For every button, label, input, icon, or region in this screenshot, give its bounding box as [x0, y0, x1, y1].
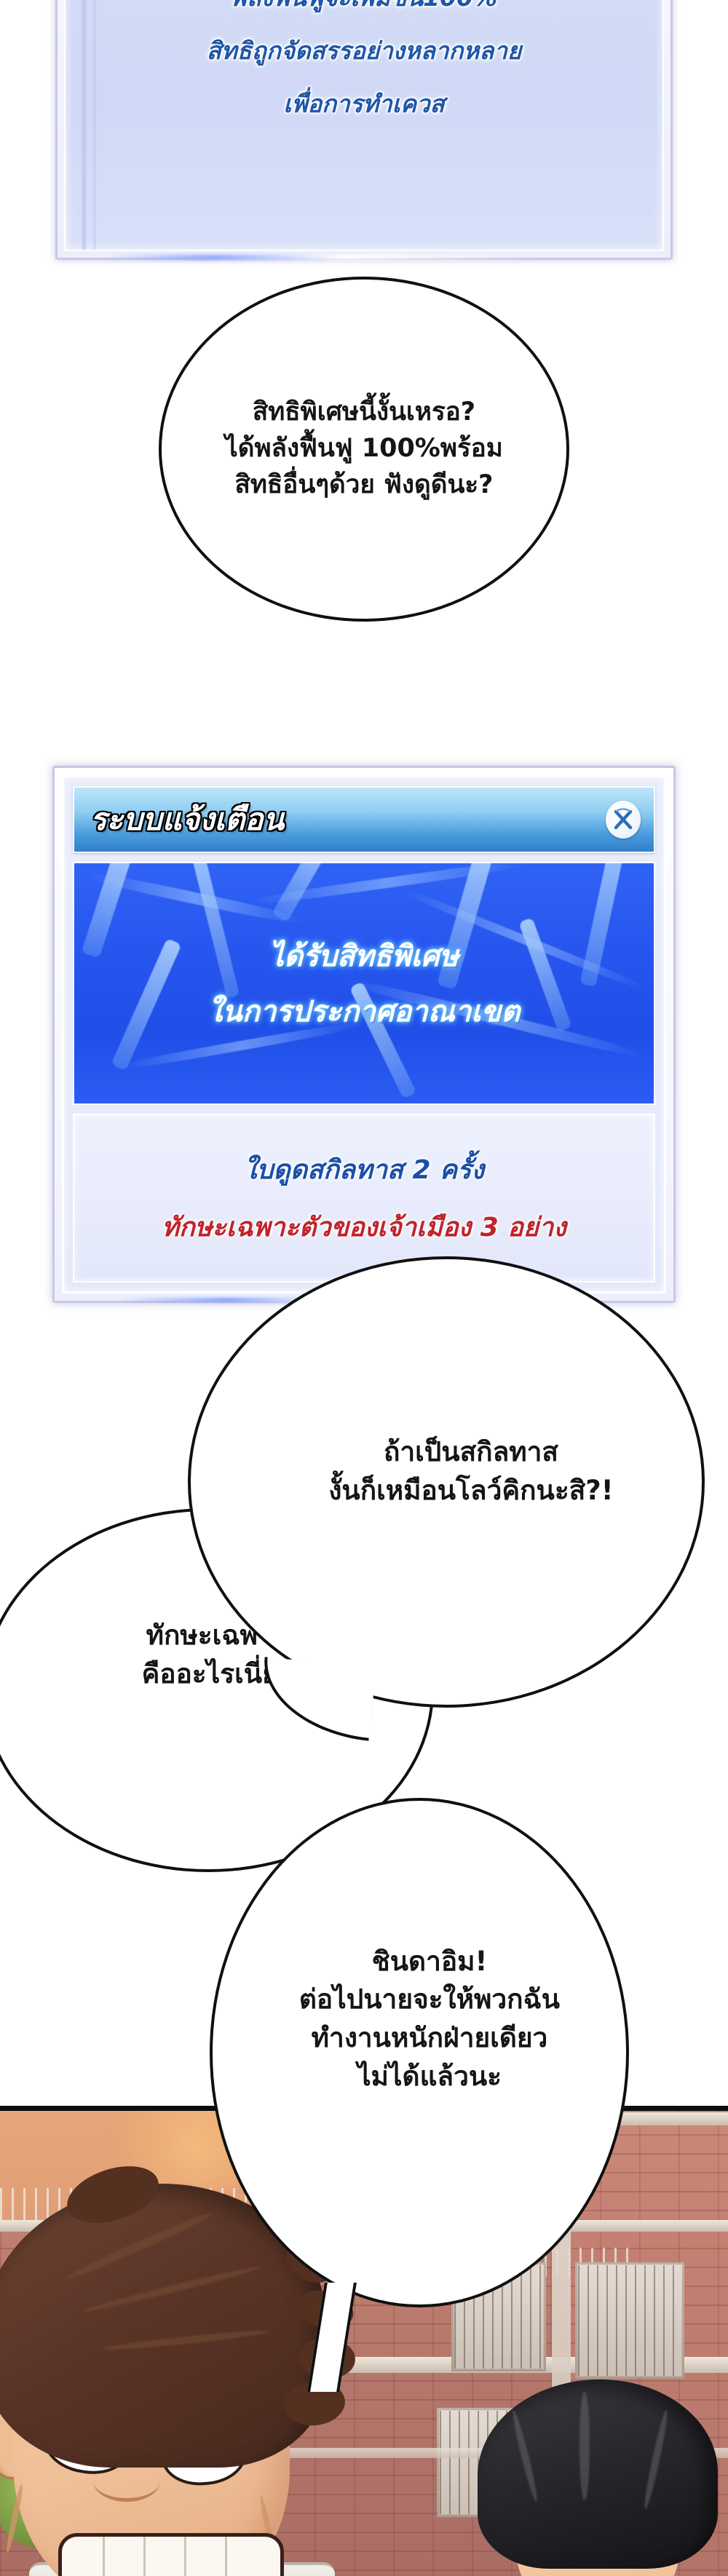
system-announcement-inner: พลังฟื้นฟูจะเพิ่มขึ้น100% สิทธิถูกจัดสรร…	[64, 0, 664, 251]
speech-bubble-2-text: ถ้าเป็นสกิลทาส งั้นก็เหมือนโลว์คิกนะสิ?!	[328, 1433, 613, 1510]
bubble-4-line-3: ทำงานหนักฝ่ายเดียว	[299, 2019, 560, 2058]
speech-bubble-2: ถ้าเป็นสกิลทาส งั้นก็เหมือนโลว์คิกนะสิ?!	[188, 1256, 705, 1708]
announcement-line-1: พลังฟื้นฟูจะเพิ่มขึ้น100%	[231, 0, 497, 9]
man-grinning-mouth	[58, 2533, 284, 2576]
bubble-2-line-2: งั้นก็เหมือนโลว์คิกนะสิ?!	[328, 1472, 613, 1510]
speech-bubble-1: สิทธิพิเศษนี้งั้นเหรอ? ได้พลังฟื้นฟู 100…	[159, 277, 569, 622]
webtoon-page: พลังฟื้นฟูจะเพิ่มขึ้น100% สิทธิถูกจัดสรร…	[0, 0, 728, 2576]
announcement-line-2: สิทธิถูกจัดสรรอย่างหลากหลาย	[207, 39, 521, 63]
speech-bubble-4-text: ชินดาอิม! ต่อไปนายจะให้พวกฉัน ทำงานหนักฝ…	[299, 1943, 560, 2096]
notification-banner: ได้รับสิทธิพิเศษ ในการประกาศอาณาเขต	[73, 862, 655, 1105]
panel-bottom-glow	[106, 255, 535, 260]
announcement-line-3: เพื่อการทำเควส	[283, 92, 444, 116]
girl-hair-parting	[579, 2391, 590, 2500]
bubble-4-line-2: ต่อไปนายจะให้พวกฉัน	[299, 1981, 560, 2019]
light-streak-decoration	[93, 0, 96, 250]
girl-hair	[478, 2379, 718, 2569]
speech-bubble-1-text: สิทธิพิเศษนี้งั้นเหรอ? ได้พลังฟื้นฟู 100…	[225, 395, 503, 503]
bubble-4-line-4: ไม่ได้แล้วนะ	[299, 2058, 560, 2096]
bubble-1-line-3: สิทธิอื่นๆด้วย ฟังดูดีนะ?	[225, 467, 503, 504]
speech-bubble-4: ชินดาอิม! ต่อไปนายจะให้พวกฉัน ทำงานหนักฝ…	[210, 1798, 629, 2307]
bubble-1-line-1: สิทธิพิเศษนี้งั้นเหรอ?	[225, 395, 503, 431]
bubble-2-line-1: ถ้าเป็นสกิลทาส	[328, 1433, 613, 1472]
system-announcement-panel: พลังฟื้นฟูจะเพิ่มขึ้น100% สิทธิถูกจัดสรร…	[55, 0, 673, 260]
close-x-icon[interactable]	[606, 801, 641, 839]
notification-titlebar: ระบบแจ้งเตือน	[73, 786, 655, 853]
reward-item-skill-absorb: ใบดูดสกิลทาส 2 ครั้ง	[244, 1149, 484, 1190]
bubble-4-line-1: ชินดาอิม!	[299, 1943, 560, 1981]
man-cheek-line	[4, 2484, 25, 2553]
notification-rewards-list: ใบดูดสกิลทาส 2 ครั้ง ทักษะเฉพาะตัวของเจ้…	[73, 1114, 655, 1283]
reward-item-lord-skills: ทักษะเฉพาะตัวของเจ้าเมือง 3 อย่าง	[162, 1206, 566, 1248]
building-window	[575, 2262, 684, 2379]
bubble-1-line-2: ได้พลังฟื้นฟู 100%พร้อม	[225, 431, 503, 467]
banner-line-1: ได้รับสิทธิพิเศษ	[269, 932, 459, 979]
system-notification-window: ระบบแจ้งเตือน	[52, 766, 676, 1303]
notification-title: ระบบแจ้งเตือน	[90, 796, 284, 844]
banner-line-2: ในการประกาศอาณาเขต	[208, 988, 521, 1034]
dark-haired-girl	[478, 2379, 718, 2576]
notification-inner: ระบบแจ้งเตือน	[62, 775, 666, 1293]
light-streak-decoration	[82, 0, 87, 250]
man-teeth	[62, 2537, 280, 2576]
